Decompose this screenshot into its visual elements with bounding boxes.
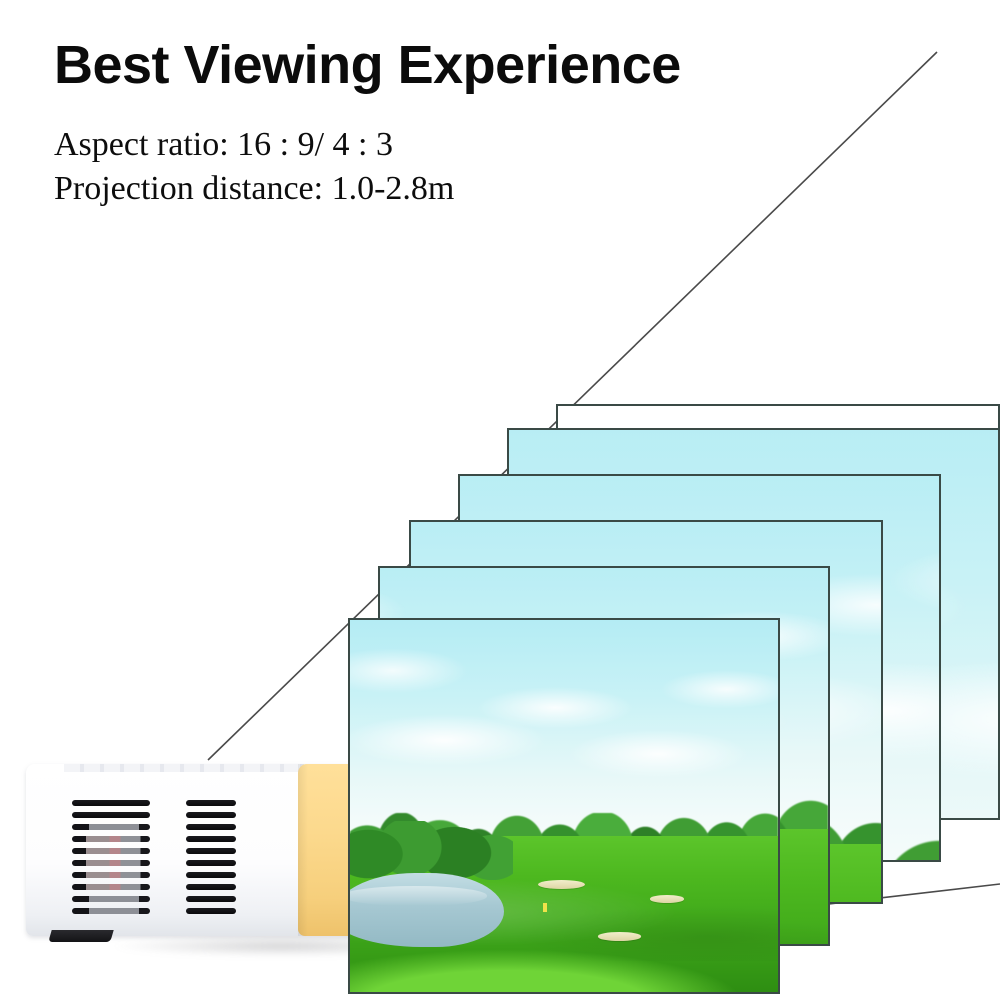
vent-slat xyxy=(186,908,236,914)
vent-slat xyxy=(186,860,236,866)
vent-slat xyxy=(186,824,236,830)
vent-slat xyxy=(72,836,150,842)
vent-slat xyxy=(186,872,236,878)
projector-top-ridge xyxy=(64,764,304,772)
vent-slat xyxy=(72,884,150,890)
vent-slat xyxy=(72,908,150,914)
sand-bunker xyxy=(650,895,684,902)
vent-group-left xyxy=(72,800,150,914)
pond xyxy=(350,873,504,947)
vent-slat xyxy=(72,800,150,806)
vent-slat xyxy=(72,824,150,830)
vent-slat xyxy=(186,836,236,842)
vent-slat xyxy=(72,896,150,902)
screen-1-front xyxy=(348,618,780,994)
vent-slat xyxy=(186,812,236,818)
projector-foot-left xyxy=(48,930,113,942)
vent-slat xyxy=(186,896,236,902)
vent-slat xyxy=(186,800,236,806)
vent-slat xyxy=(72,872,150,878)
sand-bunker xyxy=(598,932,641,940)
vent-slat xyxy=(186,884,236,890)
vent-slat xyxy=(72,812,150,818)
vent-slat xyxy=(186,848,236,854)
vent-slat xyxy=(72,860,150,866)
shoreline-trees xyxy=(350,821,513,881)
golf-flag xyxy=(543,903,547,912)
vent-slat xyxy=(72,848,150,854)
golf-course-scene xyxy=(350,620,778,992)
vent-group-right xyxy=(186,800,236,914)
product-marketing-image: Best Viewing Experience Aspect ratio: 16… xyxy=(0,0,1000,1000)
